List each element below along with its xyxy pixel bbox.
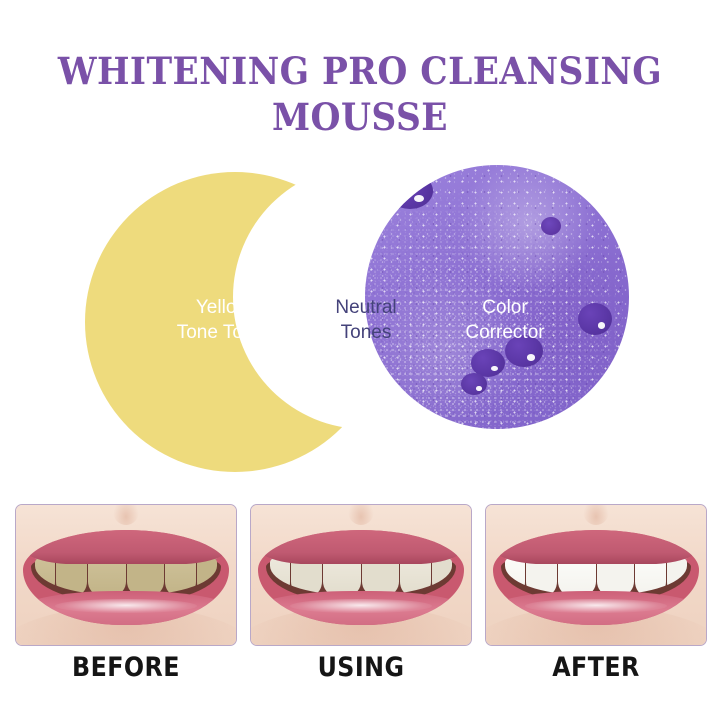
nose-icon	[583, 504, 609, 525]
caption-using: USING	[263, 652, 458, 683]
lower-lip	[258, 591, 465, 625]
comparison-photo-after	[485, 504, 707, 646]
foam-bubble-icon	[461, 373, 487, 395]
comparison-photo-before	[15, 504, 237, 646]
nose-icon	[348, 504, 374, 525]
smile-mouth	[23, 530, 230, 625]
upper-lip	[493, 530, 700, 564]
lip-gloss-highlight	[55, 599, 198, 613]
venn-label-color-corrector: Color Corrector	[418, 295, 592, 345]
lip-gloss-highlight	[290, 599, 433, 613]
upper-lip	[258, 530, 465, 564]
foam-bubble-icon	[541, 217, 561, 235]
caption-before: BEFORE	[28, 652, 223, 683]
nose-icon	[113, 504, 139, 525]
title-line-2: MOUSSE	[25, 94, 695, 140]
venn-diagram: Yellow Tone Tooth Neutral Tones Color Co…	[0, 150, 720, 490]
upper-lip	[23, 530, 230, 564]
page-title: WHITENING PRO CLEANSING MOUSSE	[0, 48, 720, 140]
lower-lip	[23, 591, 230, 625]
product-poster: WHITENING PRO CLEANSING MOUSSE Yellow To…	[0, 0, 720, 720]
lip-gloss-highlight	[525, 599, 668, 613]
comparison-photo-using	[250, 504, 472, 646]
lower-lip	[493, 591, 700, 625]
smile-mouth	[493, 530, 700, 625]
smile-mouth	[258, 530, 465, 625]
foam-bubble-icon	[387, 173, 433, 209]
comparison-photo-row	[15, 504, 707, 646]
venn-label-neutral-tones: Neutral Tones	[308, 295, 424, 345]
caption-after: AFTER	[498, 652, 693, 683]
venn-label-yellow-tone-tooth: Yellow Tone Tooth	[136, 295, 310, 345]
title-line-1: WHITENING PRO CLEANSING	[25, 48, 695, 94]
